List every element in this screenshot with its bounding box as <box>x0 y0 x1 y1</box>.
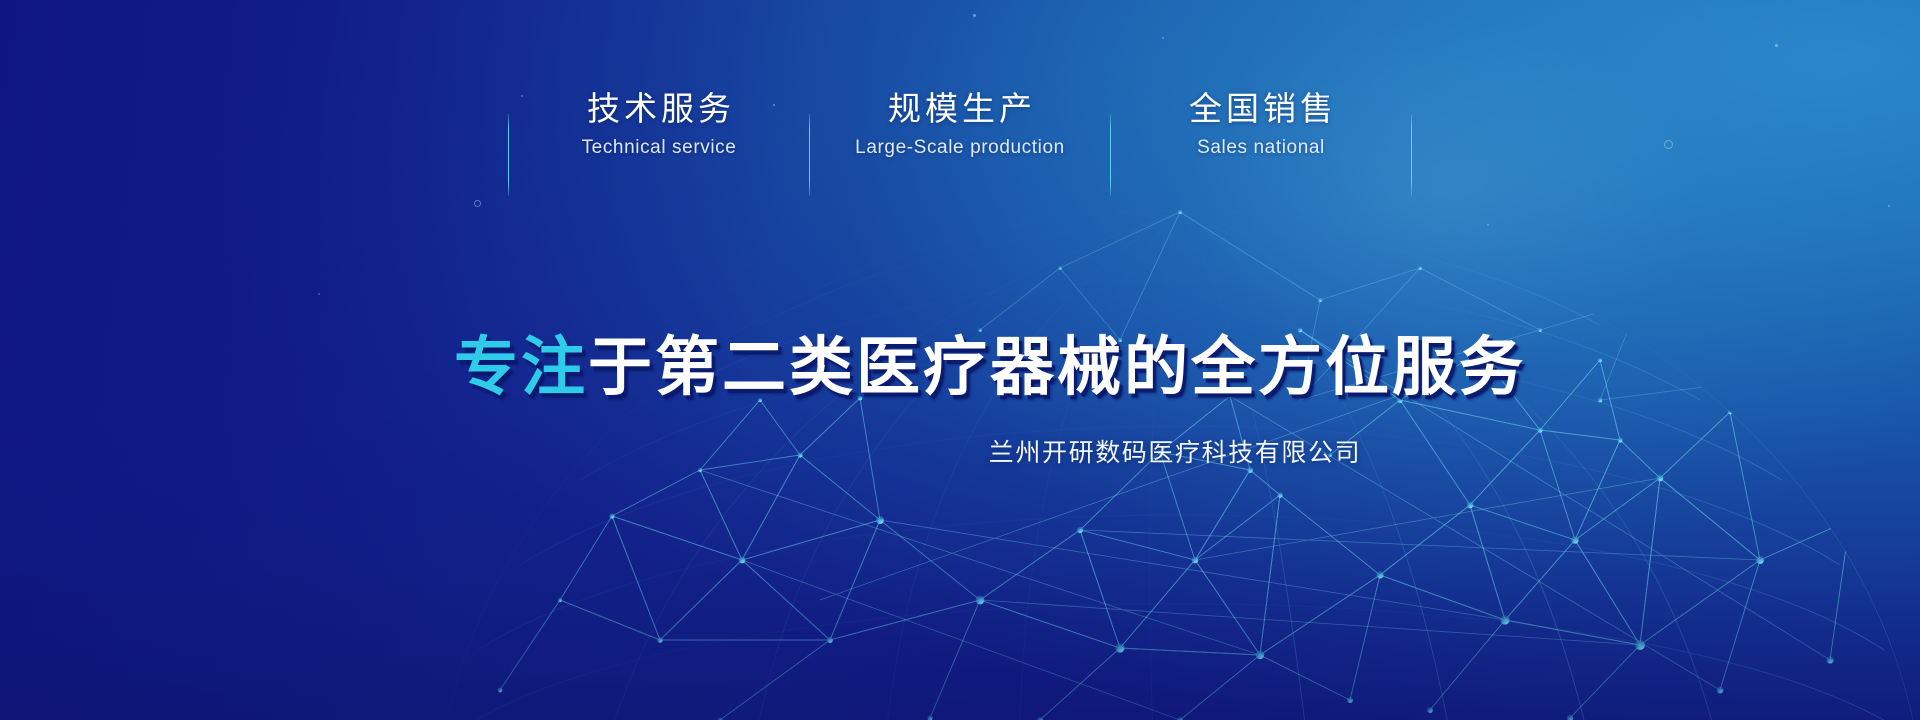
headline-container: 专注于第二类医疗器械的全方位服务 <box>0 336 1920 400</box>
feature-item-technical-service[interactable]: 技术服务 Technical service <box>509 72 809 160</box>
feature-title-en: Technical service <box>509 137 809 160</box>
subtitle-container: 兰州开研数码医疗科技有限公司 <box>0 438 1920 469</box>
hero-banner: 技术服务 Technical service 规模生产 Large-Scale … <box>0 0 1920 720</box>
feature-title-cn: 规模生产 <box>810 88 1110 130</box>
page-title: 专注于第二类医疗器械的全方位服务 <box>394 336 1526 400</box>
company-name: 兰州开研数码医疗科技有限公司 <box>559 438 1361 469</box>
feature-item-large-scale-production[interactable]: 规模生产 Large-Scale production <box>810 72 1110 160</box>
feature-title-cn: 技术服务 <box>509 88 809 130</box>
feature-item-sales-national[interactable]: 全国销售 Sales national <box>1111 72 1411 160</box>
headline-accent: 专注 <box>454 331 588 405</box>
headline-rest: 于第二类医疗器械的全方位服务 <box>588 331 1526 405</box>
feature-strip: 技术服务 Technical service 规模生产 Large-Scale … <box>0 72 1920 202</box>
feature-title-en: Large-Scale production <box>810 137 1110 160</box>
feature-divider-3 <box>1411 114 1412 196</box>
feature-title-cn: 全国销售 <box>1111 88 1411 130</box>
feature-title-en: Sales national <box>1111 137 1411 160</box>
